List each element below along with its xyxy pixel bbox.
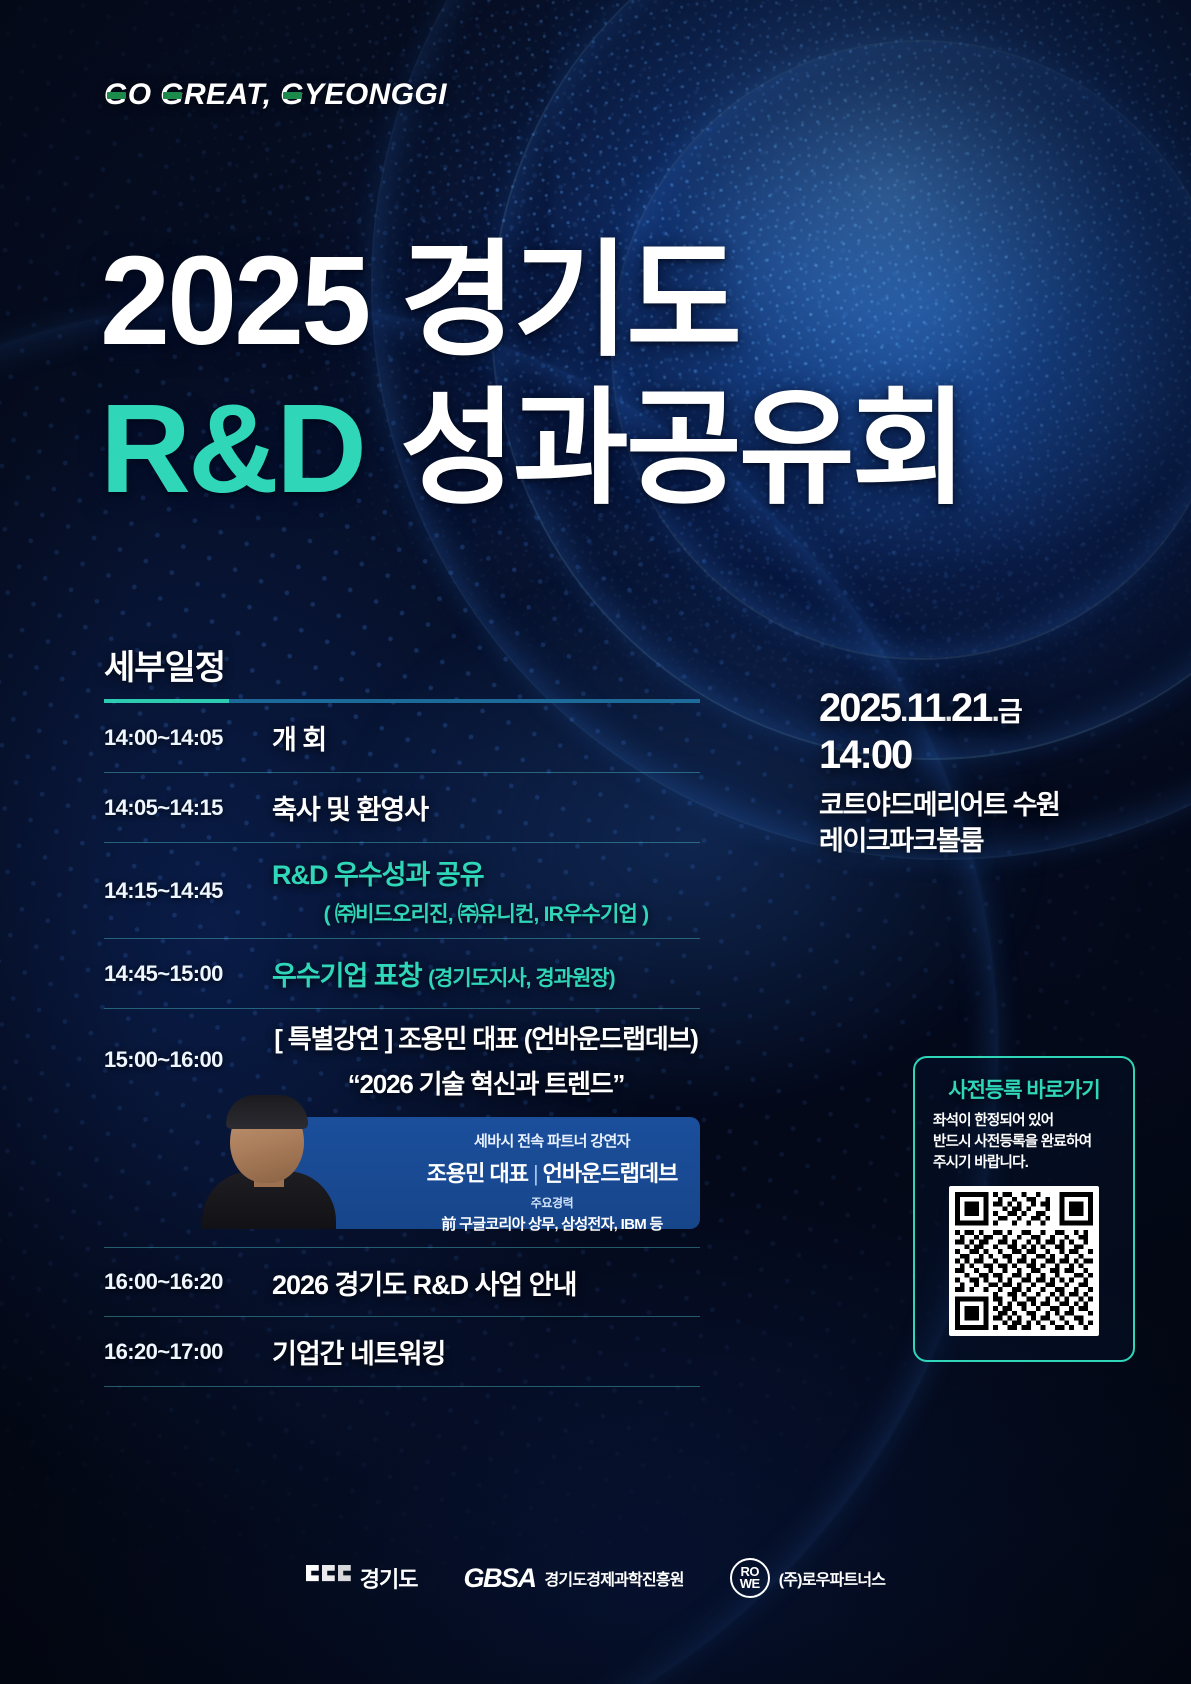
logo-rowe: ROWE (주)로우파트너스 (730, 1558, 886, 1598)
schedule-title: 기업간 네트워킹 (272, 1332, 700, 1371)
brand-great: GREAT, (160, 78, 271, 112)
speaker-card: 세바시 전속 파트너 강연자 조용민 대표|언바운드랩데브 주요경력 前 구글코… (266, 1117, 700, 1229)
table-row-lecture: 15:00~16:00 [ 특별강연 ] 조용민 대표 (언바운드랩데브) “2… (104, 1009, 700, 1101)
registration-description: 좌석이 한정되어 있어 반드시 사전등록을 완료하여 주시기 바랍니다. (925, 1111, 1123, 1174)
schedule-title-note: (경기도지사, 경과원장) (428, 967, 615, 990)
event-date-month: 11 (906, 686, 944, 730)
speaker-career-label: 주요경력 (416, 1194, 688, 1211)
speaker-name: 조용민 대표 (427, 1161, 528, 1186)
logo-rowe-label: (주)로우파트너스 (779, 1566, 886, 1590)
speaker-name-line: 조용민 대표|언바운드랩데브 (416, 1156, 688, 1188)
table-row: 16:20~17:00 기업간 네트워킹 (104, 1317, 700, 1387)
schedule-title: 축사 및 환영사 (272, 788, 700, 827)
speaker-separator: | (533, 1161, 538, 1186)
event-time: 14:00 (819, 733, 1119, 778)
table-row: 14:15~14:45 R&D 우수성과 공유 ( ㈜비드오리진, ㈜유니컨, … (104, 843, 700, 939)
table-row: 14:05~14:15 축사 및 환영사 (104, 773, 700, 843)
speaker-org: 언바운드랩데브 (543, 1161, 678, 1186)
poster-root: GO GREAT, GYEONGGI 2025 경기도 R&D성과공유회 세부일… (0, 0, 1191, 1684)
schedule-time: 16:20~17:00 (104, 1339, 272, 1365)
avatar-hair (226, 1095, 308, 1129)
schedule-time: 14:15~14:45 (104, 878, 272, 904)
table-row: 14:45~15:00 우수기업 표창 (경기도지사, 경과원장) (104, 939, 700, 1009)
brand-gyeonggi: GYEONGGI (280, 78, 447, 112)
logo-gyeonggi: 경기도 (306, 1562, 418, 1594)
schedule-time: 16:00~16:20 (104, 1269, 272, 1295)
schedule-heading: 세부일정 (104, 640, 700, 689)
schedule-time: 15:00~16:00 (104, 1047, 272, 1073)
lecture-title: [ 특별강연 ] 조용민 대표 (언바운드랩데브) (272, 1019, 700, 1056)
schedule-title: R&D 우수성과 공유 (272, 853, 700, 892)
title-line-1: 2025 경기도 (100, 236, 965, 366)
title-line-2-rest: 성과공유회 (400, 378, 965, 519)
avatar (196, 1073, 344, 1229)
registration-box[interactable]: 사전등록 바로가기 좌석이 한정되어 있어 반드시 사전등록을 완료하여 주시기… (913, 1056, 1135, 1362)
brand-logo: GO GREAT, GYEONGGI (104, 78, 447, 112)
logo-gbsa-label: 경기도경제과학진흥원 (545, 1566, 684, 1590)
schedule-title-text: 우수기업 표창 (272, 961, 422, 991)
logo-gbsa: GBSA 경기도경제과학진흥원 (464, 1563, 684, 1594)
schedule-title: 우수기업 표창 (경기도지사, 경과원장) (272, 954, 700, 993)
schedule-time: 14:05~14:15 (104, 795, 272, 821)
event-venue-line2: 레이크파크볼룸 (819, 824, 1119, 860)
schedule-title: 개 회 (272, 718, 700, 757)
title-line-2: R&D성과공유회 (100, 384, 965, 514)
speaker-career: 前 구글코리아 상무, 삼성전자, IBM 등 (416, 1213, 688, 1234)
schedule-heading-rule (104, 699, 700, 703)
logo-gyeonggi-label: 경기도 (360, 1562, 418, 1594)
brand-go: GO (104, 78, 151, 112)
event-date-day: 21 (951, 686, 992, 730)
schedule-subtitle: ( ㈜비드오리진, ㈜유니컨, IR우수기업 ) (272, 898, 700, 928)
schedule-title: 2026 경기도 R&D 사업 안내 (272, 1263, 700, 1302)
event-info: 2025.11.21.금 14:00 코트야드메리어트 수원 레이크파크볼룸 (819, 686, 1119, 859)
poster-title: 2025 경기도 R&D성과공유회 (100, 236, 965, 514)
event-day-of-week: 금 (998, 697, 1021, 727)
event-venue: 코트야드메리어트 수원 레이크파크볼룸 (819, 788, 1119, 859)
event-date-year: 2025 (819, 686, 900, 730)
registration-title: 사전등록 바로가기 (925, 1074, 1123, 1104)
schedule-section: 세부일정 14:00~14:05 개 회 14:05~14:15 축사 및 환영… (104, 640, 700, 1387)
footer-logos: 경기도 GBSA 경기도경제과학진흥원 ROWE (주)로우파트너스 (0, 1558, 1191, 1598)
registration-desc-line1: 좌석이 한정되어 있어 (933, 1111, 1123, 1132)
registration-desc-line2: 반드시 사전등록을 완료하여 (933, 1132, 1123, 1153)
schedule-time: 14:00~14:05 (104, 725, 272, 751)
qr-code-icon[interactable] (949, 1186, 1099, 1336)
event-date: 2025.11.21.금 (819, 686, 1119, 731)
event-venue-line1: 코트야드메리어트 수원 (819, 788, 1119, 824)
rowe-mark-icon: ROWE (730, 1558, 770, 1598)
title-rd-accent: R&D (100, 378, 364, 519)
speaker-role: 세바시 전속 파트너 강연자 (416, 1130, 688, 1151)
schedule-time: 14:45~15:00 (104, 961, 272, 987)
gbsa-mark-icon: GBSA (464, 1563, 536, 1594)
gyeonggi-mark-icon (306, 1565, 351, 1591)
table-row: 14:00~14:05 개 회 (104, 703, 700, 773)
table-row: 16:00~16:20 2026 경기도 R&D 사업 안내 (104, 1247, 700, 1317)
registration-desc-line3: 주시기 바랍니다. (933, 1153, 1123, 1174)
